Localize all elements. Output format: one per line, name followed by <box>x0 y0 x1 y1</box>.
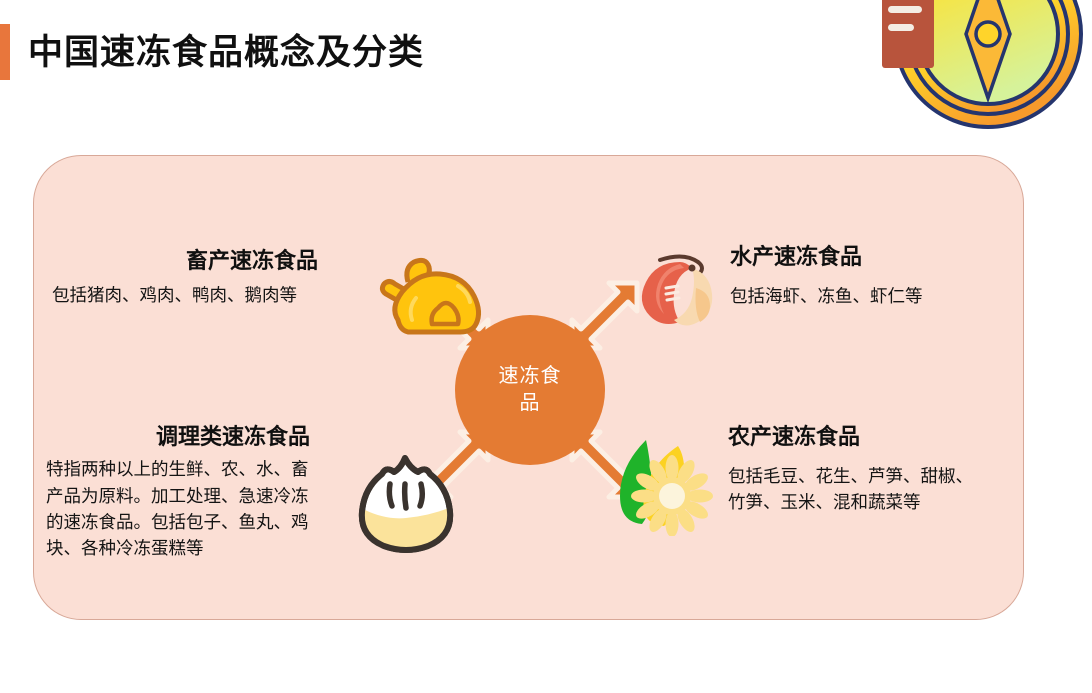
corn-vegetable-icon <box>604 432 714 541</box>
roast-chicken-icon <box>372 248 486 349</box>
compass-icon <box>870 0 1092 164</box>
category-aquatic-heading: 水产速冻食品 <box>730 244 1036 270</box>
category-aquatic: 水产速冻食品 包括海虾、冻鱼、虾仁等 <box>636 244 1036 310</box>
corner-decoration <box>870 0 1092 164</box>
flag-icon <box>882 0 934 68</box>
hub-label: 速冻食品 <box>492 363 568 417</box>
category-prepared-body: 特指两种以上的生鲜、农、水、畜产品为原料。加工处理、急速冷冻的速冻食品。包括包子… <box>46 456 316 561</box>
category-aquatic-body: 包括海虾、冻鱼、虾仁等 <box>730 284 1036 309</box>
page-title: 中国速冻食品概念及分类 <box>28 35 424 70</box>
category-prepared: 调理类速冻食品 特指两种以上的生鲜、农、水、畜产品为原料。加工处理、急速冷冻的速… <box>46 424 446 561</box>
category-agricultural-heading: 农产速冻食品 <box>728 424 1034 450</box>
steamed-bun-icon <box>346 448 464 561</box>
category-livestock: 畜产速冻食品 包括猪肉、鸡肉、鸭肉、鹅肉等 <box>46 248 446 309</box>
title-accent-bar <box>0 24 10 80</box>
page-title-block: 中国速冻食品概念及分类 <box>0 24 424 80</box>
category-prepared-heading: 调理类速冻食品 <box>46 424 446 450</box>
shrimp-icon <box>636 248 722 337</box>
category-agricultural-body: 包括毛豆、花生、芦笋、甜椒、竹笋、玉米、混和蔬菜等 <box>728 464 1034 515</box>
category-agricultural: 农产速冻食品 包括毛豆、花生、芦笋、甜椒、竹笋、玉米、混和蔬菜等 <box>604 424 1034 515</box>
